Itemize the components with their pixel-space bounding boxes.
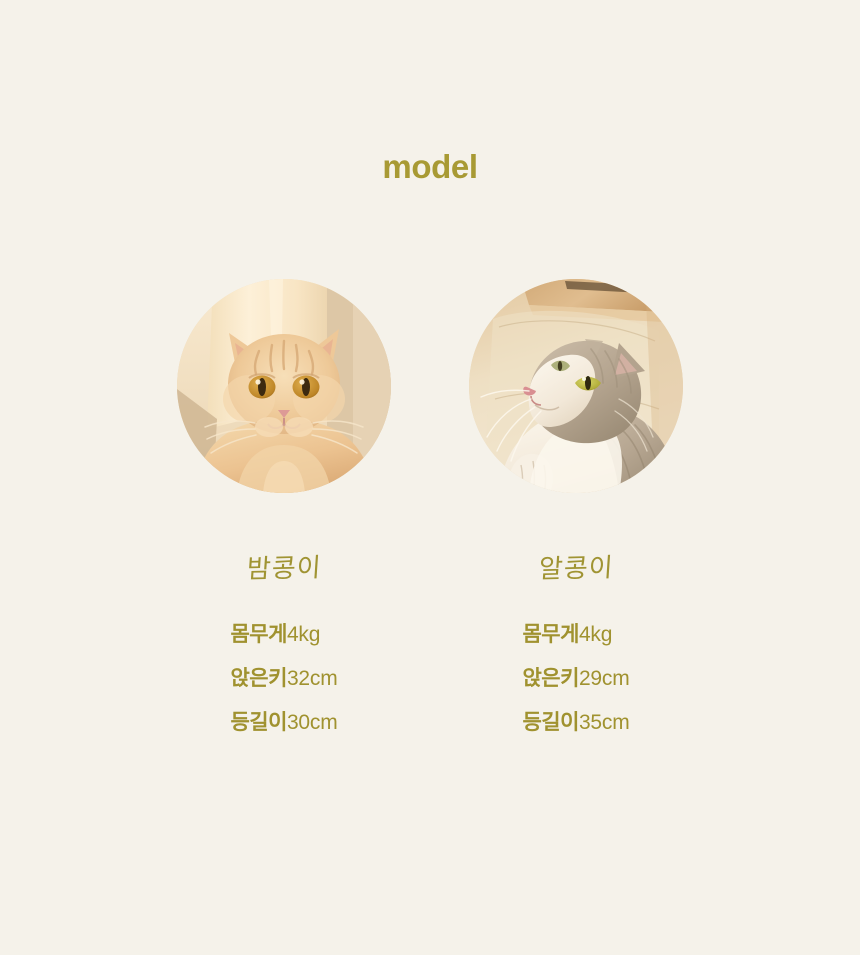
spec-value: 4kg	[287, 613, 338, 657]
table-row: 앉은키 29cm	[522, 657, 629, 701]
table-row: 등길이 35cm	[522, 701, 629, 745]
model-list: 밤콩이 몸무게 4kg 앉은키 32cm 등길이 30cm	[0, 279, 860, 745]
spec-label: 앉은키	[522, 657, 578, 701]
cat-portrait-cream-tabby-photo	[177, 279, 391, 493]
spec-value: 4kg	[579, 613, 630, 657]
spec-label: 등길이	[230, 701, 286, 745]
model-card: 알콩이 몸무게 4kg 앉은키 29cm 등길이 35cm	[469, 279, 683, 745]
table-row: 등길이 30cm	[230, 701, 337, 745]
spec-table: 몸무게 4kg 앉은키 32cm 등길이 30cm	[230, 613, 337, 745]
table-row: 몸무게 4kg	[522, 613, 629, 657]
model-card: 밤콩이 몸무게 4kg 앉은키 32cm 등길이 30cm	[177, 279, 391, 745]
table-row: 앉은키 32cm	[230, 657, 337, 701]
cat-portrait-longhair-grey-photo	[469, 279, 683, 493]
spec-value: 29cm	[579, 657, 630, 701]
page-title: model	[0, 148, 860, 186]
spec-label: 앉은키	[230, 657, 286, 701]
model-name: 밤콩이	[245, 547, 322, 586]
spec-value: 30cm	[287, 701, 338, 745]
spec-label: 몸무게	[522, 613, 578, 657]
spec-table: 몸무게 4kg 앉은키 29cm 등길이 35cm	[522, 613, 629, 745]
spec-value: 35cm	[579, 701, 630, 745]
spec-value: 32cm	[287, 657, 338, 701]
spec-label: 등길이	[522, 701, 578, 745]
table-row: 몸무게 4kg	[230, 613, 337, 657]
model-section: model	[0, 0, 860, 955]
spec-label: 몸무게	[230, 613, 286, 657]
model-name: 알콩이	[537, 547, 614, 586]
